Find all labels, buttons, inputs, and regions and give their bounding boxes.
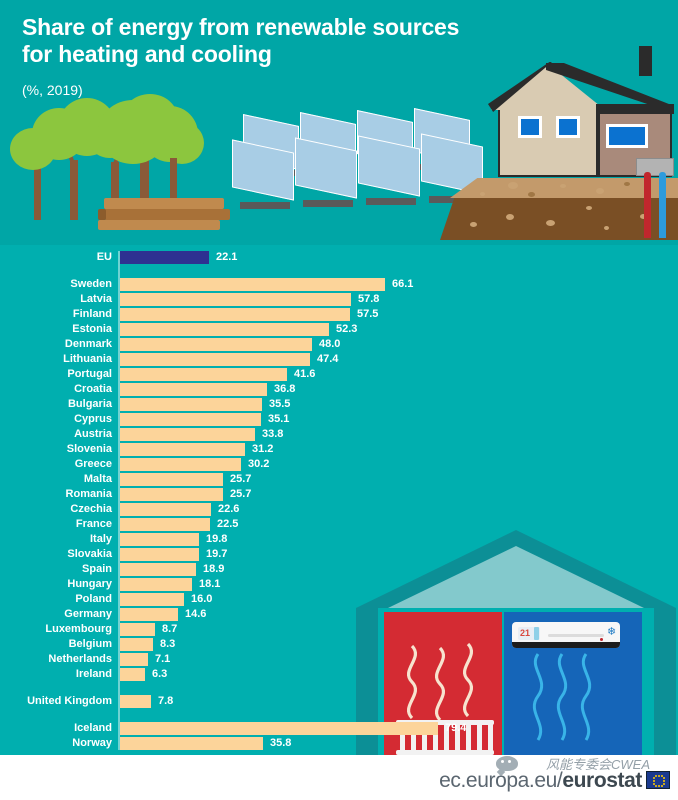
bar-country	[120, 548, 199, 561]
bar-value-label: 8.3	[160, 638, 175, 651]
chart-row: Poland16.0	[0, 593, 678, 606]
chart-row: Croatia36.8	[0, 383, 678, 396]
bar-country	[120, 413, 261, 426]
chart-panel: 21 ❄ EU22.1Sweden66.1Latvia57.8Finland57…	[0, 245, 678, 755]
chart-row: Belgium8.3	[0, 638, 678, 651]
country-label: Luxembourg	[0, 623, 112, 636]
chart-row: Lithuania47.4	[0, 353, 678, 366]
bar-country	[120, 578, 192, 591]
bar-value-label: 18.1	[199, 578, 220, 591]
country-label: EU	[0, 251, 112, 264]
country-label: Slovenia	[0, 443, 112, 456]
bar-value-label: 22.5	[217, 518, 238, 531]
bar-eu	[120, 251, 209, 264]
chart-row: Iceland79.4	[0, 722, 678, 735]
chart-row: Romania25.7	[0, 488, 678, 501]
country-label: Italy	[0, 533, 112, 546]
bar-value-label: 57.5	[357, 308, 378, 321]
chart-row: Malta25.7	[0, 473, 678, 486]
chart-row: Denmark48.0	[0, 338, 678, 351]
country-label: Austria	[0, 428, 112, 441]
bar-country	[120, 368, 287, 381]
bar-value-label: 7.8	[158, 695, 173, 708]
bar-value-label: 22.6	[218, 503, 239, 516]
footer: ec.europa.eu/eurostat 风能专委会CWEA	[0, 755, 678, 800]
chart-row: Hungary18.1	[0, 578, 678, 591]
country-label: Estonia	[0, 323, 112, 336]
country-label: Portugal	[0, 368, 112, 381]
bar-country	[120, 323, 329, 336]
country-label: Finland	[0, 308, 112, 321]
wechat-icon	[496, 756, 518, 771]
chart-row: Czechia22.6	[0, 503, 678, 516]
chart-row: Norway35.8	[0, 737, 678, 750]
country-label: Croatia	[0, 383, 112, 396]
bar-country	[120, 503, 211, 516]
bar-value-label: 41.6	[294, 368, 315, 381]
bar-country	[120, 593, 184, 606]
chart-row: Netherlands7.1	[0, 653, 678, 666]
chart-row: Finland57.5	[0, 308, 678, 321]
bar-value-label: 52.3	[336, 323, 357, 336]
country-label: Cyprus	[0, 413, 112, 426]
bar-chart-rows: EU22.1Sweden66.1Latvia57.8Finland57.5Est…	[0, 245, 678, 755]
bar-country	[120, 398, 262, 411]
bar-country	[120, 653, 148, 666]
chart-row: Ireland6.3	[0, 668, 678, 681]
bar-value-label: 33.8	[262, 428, 283, 441]
bar-country	[120, 473, 223, 486]
eu-flag-icon	[646, 771, 670, 789]
bar-value-label: 25.7	[230, 488, 251, 501]
page-subtitle: (%, 2019)	[22, 82, 83, 98]
chart-row: France22.5	[0, 518, 678, 531]
bar-value-label: 7.1	[155, 653, 170, 666]
bar-value-label: 35.8	[270, 737, 291, 750]
chart-row: Germany14.6	[0, 608, 678, 621]
bar-country	[120, 458, 241, 471]
bar-value-label: 35.1	[268, 413, 289, 426]
chart-row: EU22.1	[0, 251, 678, 264]
bar-country	[120, 443, 245, 456]
country-label: Czechia	[0, 503, 112, 516]
bar-value-label: 8.7	[162, 623, 177, 636]
bar-country	[120, 563, 196, 576]
bar-value-label: 25.7	[230, 473, 251, 486]
country-label: Latvia	[0, 293, 112, 306]
bar-country	[120, 353, 310, 366]
chart-row: Luxembourg8.7	[0, 623, 678, 636]
country-label: Lithuania	[0, 353, 112, 366]
bar-value-label: 36.8	[274, 383, 295, 396]
chart-row: Spain18.9	[0, 563, 678, 576]
chart-row: Cyprus35.1	[0, 413, 678, 426]
country-label: Hungary	[0, 578, 112, 591]
country-label: Netherlands	[0, 653, 112, 666]
infographic-page: Share of energy from renewable sources f…	[0, 0, 678, 800]
bar-value-label: 22.1	[216, 251, 237, 264]
bar-country	[120, 428, 255, 441]
chart-row: Greece30.2	[0, 458, 678, 471]
country-label: Denmark	[0, 338, 112, 351]
bar-country	[120, 278, 385, 291]
bar-country	[120, 638, 153, 651]
country-label: Spain	[0, 563, 112, 576]
chart-row: Italy19.8	[0, 533, 678, 546]
country-label: Belgium	[0, 638, 112, 651]
country-label: Greece	[0, 458, 112, 471]
bar-value-label: 14.6	[185, 608, 206, 621]
header-illustration-band: Share of energy from renewable sources f…	[0, 0, 678, 245]
bar-value-label: 31.2	[252, 443, 273, 456]
watermark-text: 风能专委会CWEA	[546, 754, 650, 773]
bar-value-label: 47.4	[317, 353, 338, 366]
chart-row: Portugal41.6	[0, 368, 678, 381]
bar-value-label: 30.2	[248, 458, 269, 471]
bar-country	[120, 722, 438, 735]
chart-row: Sweden66.1	[0, 278, 678, 291]
country-label: Germany	[0, 608, 112, 621]
country-label: Ireland	[0, 668, 112, 681]
chart-row: Bulgaria35.5	[0, 398, 678, 411]
chart-row: United Kingdom7.8	[0, 695, 678, 708]
country-label: Romania	[0, 488, 112, 501]
country-label: Sweden	[0, 278, 112, 291]
country-label: Poland	[0, 593, 112, 606]
bar-country	[120, 488, 223, 501]
country-label: Slovakia	[0, 548, 112, 561]
bar-value-label: 79.4	[445, 722, 466, 735]
bar-country	[120, 533, 199, 546]
chart-row: Slovakia19.7	[0, 548, 678, 561]
chart-row: Estonia52.3	[0, 323, 678, 336]
country-label: United Kingdom	[0, 695, 112, 708]
bar-country	[120, 338, 312, 351]
bar-country	[120, 668, 145, 681]
bar-country	[120, 308, 350, 321]
country-label: France	[0, 518, 112, 531]
bar-value-label: 6.3	[152, 668, 167, 681]
bar-value-label: 48.0	[319, 338, 340, 351]
bar-country	[120, 608, 178, 621]
bar-country	[120, 518, 210, 531]
country-label: Malta	[0, 473, 112, 486]
chart-row: Austria33.8	[0, 428, 678, 441]
bar-value-label: 16.0	[191, 593, 212, 606]
chart-row: Slovenia31.2	[0, 443, 678, 456]
bar-country	[120, 383, 267, 396]
bar-value-label: 66.1	[392, 278, 413, 291]
bar-country	[120, 293, 351, 306]
bar-value-label: 18.9	[203, 563, 224, 576]
country-label: Iceland	[0, 722, 112, 735]
bar-value-label: 19.8	[206, 533, 227, 546]
page-title: Share of energy from renewable sources f…	[22, 14, 492, 68]
bar-country	[120, 623, 155, 636]
chart-row: Latvia57.8	[0, 293, 678, 306]
bar-country	[120, 737, 263, 750]
bar-value-label: 35.5	[269, 398, 290, 411]
bar-country	[120, 695, 151, 708]
country-label: Norway	[0, 737, 112, 750]
bar-value-label: 19.7	[206, 548, 227, 561]
bar-value-label: 57.8	[358, 293, 379, 306]
country-label: Bulgaria	[0, 398, 112, 411]
